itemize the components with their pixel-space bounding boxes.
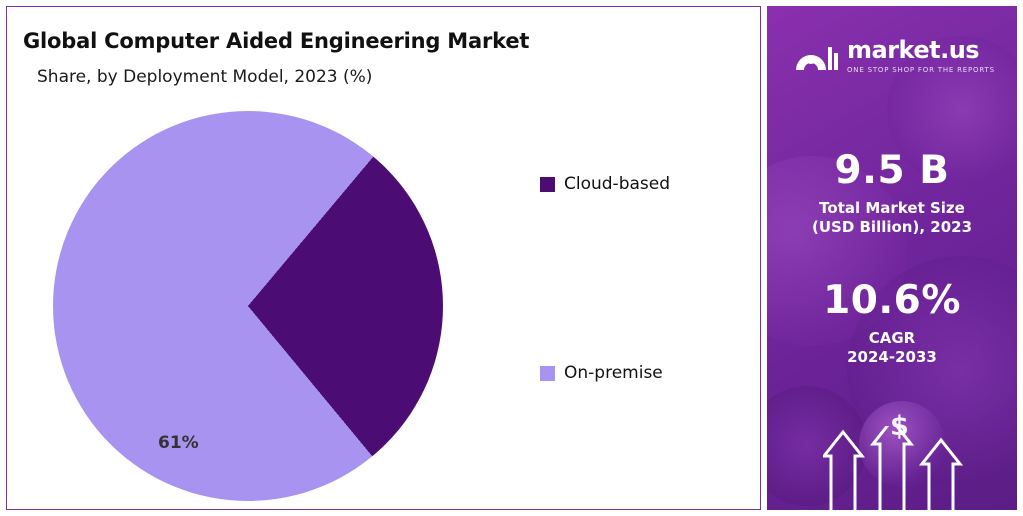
growth-arrows-icon bbox=[823, 426, 983, 510]
stat-cagr-label-line1: CAGR bbox=[767, 329, 1017, 348]
pie-slice-label-on-premise: 61% bbox=[158, 433, 199, 453]
stat-market-size-label: Total Market Size (USD Billion), 2023 bbox=[767, 199, 1017, 237]
legend-item-on-premise[interactable]: On-premise bbox=[540, 363, 663, 383]
brand-tagline: ONE STOP SHOP FOR THE REPORTS bbox=[847, 66, 995, 74]
stat-market-size: 9.5 B Total Market Size (USD Billion), 2… bbox=[767, 148, 1017, 237]
stat-cagr-label: CAGR 2024-2033 bbox=[767, 329, 1017, 367]
legend-label-cloud-based: Cloud-based bbox=[564, 174, 670, 194]
stats-panel: market.us ONE STOP SHOP FOR THE REPORTS … bbox=[767, 6, 1017, 510]
chart-subtitle: Share, by Deployment Model, 2023 (%) bbox=[37, 67, 372, 87]
legend-label-on-premise: On-premise bbox=[564, 363, 663, 383]
pie-circle bbox=[53, 111, 443, 501]
legend-swatch-on-premise bbox=[540, 366, 555, 381]
infographic-root: Global Computer Aided Engineering Market… bbox=[0, 0, 1023, 516]
stat-market-size-value: 9.5 B bbox=[767, 148, 1017, 193]
stat-cagr: 10.6% CAGR 2024-2033 bbox=[767, 278, 1017, 367]
legend-item-cloud-based[interactable]: Cloud-based bbox=[540, 174, 670, 194]
brand-logo: market.us ONE STOP SHOP FOR THE REPORTS bbox=[793, 38, 995, 74]
stat-market-size-label-line2: (USD Billion), 2023 bbox=[767, 218, 1017, 237]
stat-market-size-label-line1: Total Market Size bbox=[767, 199, 1017, 218]
legend-swatch-cloud-based bbox=[540, 177, 555, 192]
brand-name: market.us bbox=[847, 38, 995, 62]
pie-chart: 61% bbox=[53, 111, 449, 507]
page-title: Global Computer Aided Engineering Market bbox=[23, 29, 529, 53]
stat-cagr-label-line2: 2024-2033 bbox=[767, 348, 1017, 367]
stat-cagr-value: 10.6% bbox=[767, 278, 1017, 323]
chart-panel: Global Computer Aided Engineering Market… bbox=[6, 6, 761, 510]
market-us-logo-icon bbox=[793, 39, 839, 73]
